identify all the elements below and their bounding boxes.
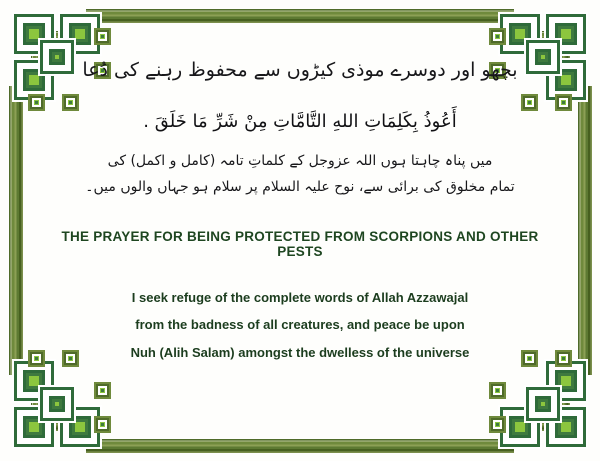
english-translation-line-1: I seek refuge of the complete words of A… (48, 285, 552, 310)
border-bar-right (577, 86, 592, 375)
english-translation-line-2: from the badness of all creatures, and p… (48, 312, 552, 337)
english-translation: I seek refuge of the complete words of A… (48, 285, 552, 365)
urdu-translation-line-1: میں پناہ چاہتا ہوں اللہ عزوجل کے کلماتِ … (48, 149, 552, 174)
square-stud-ornament (555, 94, 572, 111)
border-bar-top (86, 8, 514, 23)
border-bar-bottom (86, 438, 514, 453)
urdu-translation: میں پناہ چاہتا ہوں اللہ عزوجل کے کلماتِ … (48, 149, 552, 199)
arabic-dua-text: أَعُوذُ بِكَلِمَاتِ اللهِ التَّامَّاتِ م… (48, 107, 552, 138)
english-heading: THE PRAYER FOR BEING PROTECTED FROM SCOR… (48, 229, 552, 259)
square-stud-ornament (28, 94, 45, 111)
urdu-title: بچھو اور دوسرے موذی کیڑوں سے محفوظ رہنے … (48, 56, 552, 85)
poster-page: بچھو اور دوسرے موذی کیڑوں سے محفوظ رہنے … (0, 0, 600, 461)
square-stud-ornament (555, 350, 572, 367)
urdu-translation-line-2: تمام مخلوق کی برائی سے، نوح علیہ السلام … (48, 175, 552, 200)
english-translation-line-3: Nuh (Alih Salam) amongst the dwelless of… (48, 340, 552, 365)
border-bar-left (8, 86, 23, 375)
content-area: بچھو اور دوسرے موذی کیڑوں سے محفوظ رہنے … (48, 34, 552, 427)
square-stud-ornament (28, 350, 45, 367)
